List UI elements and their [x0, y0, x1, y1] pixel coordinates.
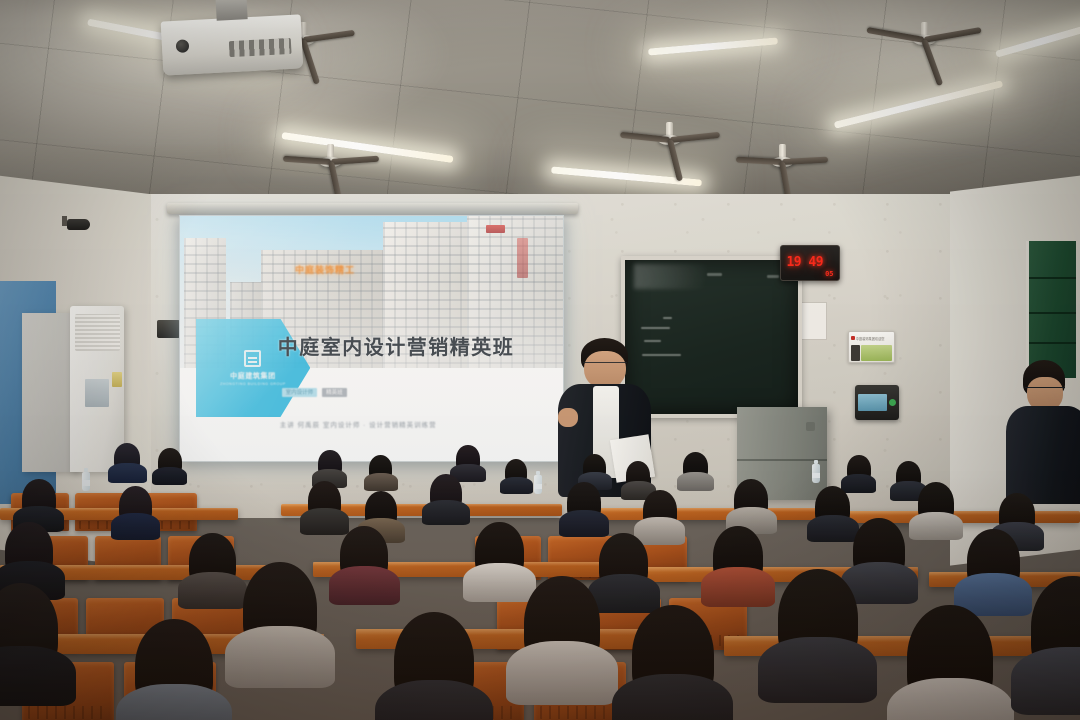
- audience-member: [847, 455, 871, 483]
- audience-member: [1031, 576, 1080, 680]
- ceiling-fan: [281, 144, 381, 182]
- attendance-terminal[interactable]: [855, 385, 898, 420]
- lecture-hall-scene: 中庭装饰精工 中庭建筑集团 ZHONGTING BUILDING GROUP 中…: [0, 0, 1080, 720]
- audience-member: [778, 569, 858, 669]
- audience-member: [189, 533, 236, 590]
- terminal-status-led: [889, 399, 896, 406]
- audience-member: [967, 529, 1020, 594]
- clock-seconds: 05: [825, 270, 833, 278]
- wall-info-sign: 中庭装饰集团欢迎您: [848, 331, 896, 363]
- ceiling-projector: [161, 14, 304, 75]
- audience-member: [567, 482, 601, 523]
- projector-mount: [215, 0, 247, 21]
- audience-member: [308, 481, 341, 521]
- audience-member: [158, 448, 182, 476]
- audience-member: [853, 518, 905, 582]
- projection-screen: 中庭装饰精工 中庭建筑集团 ZHONGTING BUILDING GROUP 中…: [179, 215, 563, 463]
- water-bottle: [82, 472, 90, 491]
- green-framed-door[interactable]: [1026, 241, 1076, 378]
- ac-grille: [75, 314, 120, 350]
- ac-control-panel[interactable]: [85, 379, 109, 407]
- standing-man-torso: [1006, 406, 1080, 504]
- clock-hours-minutes: 19 49: [786, 255, 823, 270]
- slide-brand-en: ZHONGTING BUILDING GROUP: [220, 382, 286, 386]
- audience-member: [340, 526, 388, 585]
- slide-badge-primary: 室内设计师: [282, 388, 318, 397]
- slide-badge-row: 室内设计师 精英班: [282, 388, 347, 397]
- audience-member: [907, 605, 993, 713]
- glasses-icon: [583, 362, 627, 368]
- ac-energy-label: [112, 372, 122, 387]
- audience-member: [734, 479, 768, 520]
- wall-sign-heading: 中庭装饰集团欢迎您: [856, 336, 885, 341]
- slide-badge-secondary: 精英班: [322, 388, 347, 397]
- audience-member: [505, 459, 527, 485]
- ceiling-fan: [734, 144, 830, 180]
- audience-member: [599, 533, 648, 593]
- audience-member: [815, 486, 850, 528]
- audience-member: [713, 526, 763, 587]
- audience-member: [135, 619, 213, 715]
- sign-qr-icon: [851, 345, 860, 361]
- audience-member: [369, 455, 392, 482]
- audience-member: [318, 450, 342, 478]
- ceiling-fan: [616, 122, 724, 162]
- podium-latch-icon[interactable]: [806, 422, 815, 431]
- water-bottle: [812, 464, 820, 483]
- audience-member: [394, 612, 474, 712]
- led-wall-clock: 19 49 05: [780, 245, 840, 281]
- audience-member: [0, 583, 58, 675]
- terminal-display: [858, 394, 886, 412]
- audience-member: [5, 522, 53, 580]
- audience-member: [243, 562, 317, 656]
- glasses-icon: [1025, 387, 1065, 393]
- audience-member: [22, 479, 56, 519]
- audience-member: [524, 576, 600, 672]
- building-logo-icon: [244, 350, 261, 367]
- audience-member: [583, 454, 606, 481]
- projector-screen-rail: [167, 203, 577, 214]
- wall-sign-sub: [861, 345, 892, 361]
- audience-member: [119, 486, 152, 526]
- audience-member: [475, 522, 524, 582]
- projector-ports: [229, 38, 292, 57]
- slide-title: 中庭室内设计营销精英班: [278, 331, 515, 360]
- audience-member: [918, 482, 954, 525]
- presenter-hand: [558, 408, 577, 427]
- security-camera-icon: [60, 216, 92, 235]
- audience-member: [626, 461, 650, 490]
- audience-member: [365, 491, 397, 530]
- standing-man-right: [1004, 360, 1080, 504]
- ceiling-fan: [864, 22, 984, 66]
- projector-lens: [176, 40, 190, 54]
- bench-desk: [572, 508, 831, 520]
- slide-subtitle: 主讲 何禹辰 室内设计师 · 设计营销精英训练营: [280, 419, 437, 429]
- audience-member: [632, 605, 714, 707]
- audience-member: [430, 474, 462, 512]
- audience-member: [114, 443, 140, 473]
- wall-speaker: [157, 320, 181, 337]
- sign-logo-icon: [851, 336, 855, 340]
- audience-member: [683, 452, 708, 481]
- slide-brand-cn: 中庭建筑集团: [230, 371, 276, 381]
- audience-member: [456, 445, 480, 473]
- audience-member: [643, 490, 677, 531]
